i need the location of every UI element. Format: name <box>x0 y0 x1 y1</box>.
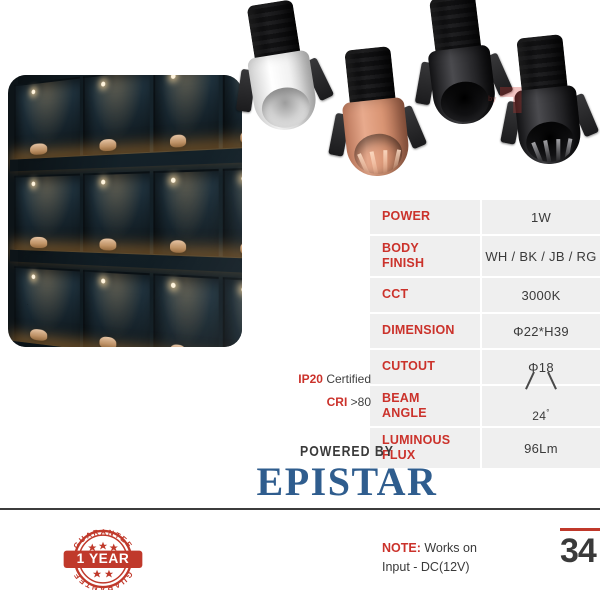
guarantee-banner-text: 1 YEAR <box>77 551 130 566</box>
page-number-rule <box>560 528 600 531</box>
lamp-body <box>342 97 412 179</box>
niche-cell <box>14 76 80 157</box>
lamp-aperture <box>439 79 492 125</box>
lamp-aperture <box>259 84 313 131</box>
epistar-wordmark: EPISTAR <box>232 462 462 502</box>
page-number: 34 <box>560 534 600 568</box>
spotlight-rose-gold <box>330 45 419 202</box>
accent-light-dot <box>31 181 35 186</box>
accent-light-dot <box>31 89 35 94</box>
accent-light-dot <box>101 180 105 185</box>
reflector-facet <box>370 151 379 175</box>
reflector-facet <box>564 138 572 160</box>
niche-cell <box>223 277 242 347</box>
accent-light-dot <box>31 274 35 279</box>
vase-object <box>99 336 116 347</box>
shelf-row <box>9 260 242 347</box>
table-row: BEAM ANGLE 24° <box>370 385 600 427</box>
accent-light-dot <box>241 286 242 292</box>
vase-object <box>30 328 46 341</box>
epistar-logo: POWERED BY EPISTAR <box>232 443 462 502</box>
guarantee-stamp-icon: GUARANTEE GUARANTEE 1 YEAR <box>55 528 151 590</box>
lamp-body <box>247 49 320 134</box>
spec-label-beam-angle: BEAM ANGLE <box>370 385 481 427</box>
niche-wall-graphic <box>17 75 242 347</box>
spotlight-black-1 <box>415 0 507 150</box>
spec-value-beam-angle: 24° <box>481 385 600 427</box>
table-row: CUTOUT Φ18 <box>370 349 600 385</box>
spec-label-power: POWER <box>370 200 481 235</box>
accent-light-dot <box>101 278 105 283</box>
table-row: BODY FINISH WH / BK / JB / RG <box>370 235 600 277</box>
vase-object <box>169 344 185 347</box>
lamp-aperture <box>524 119 576 164</box>
niche-cell <box>83 171 149 254</box>
accent-light-dot <box>171 75 176 79</box>
beam-cone-shape <box>532 390 550 407</box>
footer-divider <box>0 508 600 510</box>
vase-object <box>99 139 116 152</box>
table-row: DIMENSION Φ22*H39 <box>370 313 600 349</box>
reflector-facet <box>531 142 543 164</box>
spec-value-luminous-flux: 96Lm <box>481 427 600 469</box>
application-photo <box>8 75 242 347</box>
lamp-body <box>514 85 584 167</box>
table-row: CCT 3000K <box>370 277 600 313</box>
shelf-row <box>9 75 242 171</box>
vase-object <box>30 236 46 247</box>
certification-ip20: IP20 Certified <box>275 368 371 391</box>
niche-cell <box>153 273 218 347</box>
spec-value-dimension: Φ22*H39 <box>481 313 600 349</box>
accent-light-dot <box>171 282 176 287</box>
spec-label-cct: CCT <box>370 277 481 313</box>
vase-object <box>30 143 46 155</box>
spec-label-body-finish: BODY FINISH <box>370 235 481 277</box>
powered-by-label: POWERED BY <box>253 443 442 460</box>
certification-block: IP20 Certified CRI >80 <box>275 368 371 415</box>
svg-text:GUARANTEE: GUARANTEE <box>72 570 135 590</box>
vase-object <box>169 239 185 252</box>
vase-object <box>99 238 116 250</box>
spec-label-cutout: CUTOUT <box>370 349 481 385</box>
shelf-row <box>9 159 242 275</box>
niche-cell <box>83 270 149 347</box>
reflector-facet <box>392 149 401 173</box>
spotlight-white <box>233 0 330 157</box>
niche-cell <box>14 266 80 347</box>
certification-cri: CRI >80 <box>275 391 371 414</box>
niche-cell <box>83 75 149 154</box>
vase-object <box>169 134 185 147</box>
spec-label-dimension: DIMENSION <box>370 313 481 349</box>
note-line-1: NOTE: Works on <box>382 539 477 558</box>
table-row: POWER 1W <box>370 200 600 235</box>
guarantee-arc-bottom: GUARANTEE <box>72 570 135 590</box>
lamp-aperture <box>352 131 404 176</box>
beam-cone-icon: 24° <box>532 390 550 422</box>
reflector-facet <box>543 140 551 162</box>
specification-table: POWER 1W BODY FINISH WH / BK / JB / RG C… <box>370 200 600 470</box>
note-line-2: Input - DC(12V) <box>382 558 477 577</box>
niche-cell <box>153 168 218 256</box>
spotlight-black-2 <box>502 33 591 190</box>
page-number-block: 34 <box>560 528 600 568</box>
spec-value-power: 1W <box>481 200 600 235</box>
spec-value-body-finish: WH / BK / JB / RG <box>481 235 600 277</box>
niche-cell <box>153 75 218 151</box>
niche-cell <box>14 173 80 251</box>
note-block: NOTE: Works on Input - DC(12V) <box>382 539 477 578</box>
product-image-group: by <box>238 0 600 211</box>
reflector-facet <box>556 139 560 161</box>
lamp-body <box>427 44 498 127</box>
spec-value-cutout: Φ18 <box>481 349 600 385</box>
accent-light-dot <box>171 178 176 183</box>
beam-angle-degrees: 24° <box>532 409 549 422</box>
vase-object <box>240 241 242 255</box>
accent-light-dot <box>101 81 105 86</box>
guarantee-badge: GUARANTEE GUARANTEE 1 YEAR <box>55 528 151 590</box>
spec-value-cct: 3000K <box>481 277 600 313</box>
reflector-facet <box>383 150 387 173</box>
reflector-facet <box>357 153 370 176</box>
